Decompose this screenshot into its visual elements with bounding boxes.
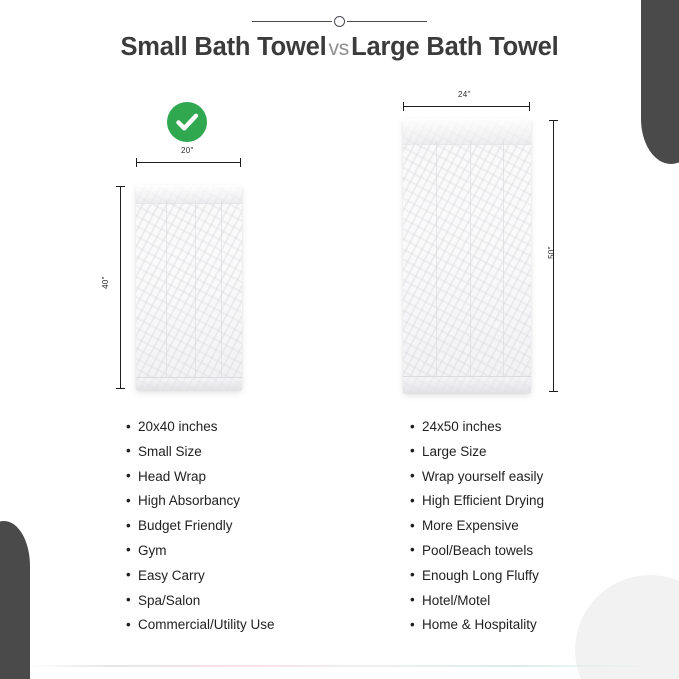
feature-list-item: 24x50 inches: [410, 415, 544, 440]
right-feature-list: 24x50 inchesLarge SizeWrap yourself easi…: [410, 415, 544, 638]
header-divider: [0, 16, 679, 27]
check-circle-icon: [167, 102, 207, 142]
title-right-product: Large Bath Towel: [351, 33, 558, 61]
right-height-label: 50": [547, 246, 556, 259]
towel-fold-bottom: [136, 377, 242, 390]
towel-fold-bottom: [403, 376, 531, 393]
left-width-dimension-line: [136, 162, 241, 163]
divider-rule-left: [252, 21, 332, 22]
feature-list-item: Large Size: [410, 440, 544, 465]
right-width-dimension-line: [403, 106, 530, 107]
right-width-label: 24": [458, 90, 471, 99]
decoration-corner-bottom-left: [0, 521, 30, 679]
towel-crease: [436, 141, 437, 377]
large-towel-image: [403, 119, 531, 393]
feature-list-item: Small Size: [126, 440, 275, 465]
feature-list-item: High Absorbancy: [126, 489, 275, 514]
feature-list-item: 20x40 inches: [126, 415, 275, 440]
feature-list-item: Spa/Salon: [126, 589, 275, 614]
feature-list-item: Enough Long Fluffy: [410, 564, 544, 589]
towel-comparison-infographic: Small Bath TowelvsLarge Bath Towel 20" 4…: [0, 0, 679, 679]
towel-fold-top: [136, 185, 242, 204]
feature-list-item: Pool/Beach towels: [410, 539, 544, 564]
feature-list-item: High Efficient Drying: [410, 489, 544, 514]
towel-crease: [195, 201, 196, 377]
feature-list-item: Budget Friendly: [126, 514, 275, 539]
title-left-product: Small Bath Towel: [120, 33, 326, 61]
left-height-label: 40": [101, 276, 110, 289]
feature-list-item: Commercial/Utility Use: [126, 613, 275, 638]
feature-list-item: More Expensive: [410, 514, 544, 539]
towel-crease: [221, 201, 222, 377]
towel-fold-top: [403, 119, 531, 145]
left-height-dimension-line: [120, 186, 121, 389]
small-towel-image: [136, 185, 242, 390]
towel-crease: [166, 201, 167, 377]
divider-rule-right: [347, 21, 427, 22]
divider-node-icon: [334, 16, 345, 27]
page-title: Small Bath TowelvsLarge Bath Towel: [0, 33, 679, 62]
title-vs-separator: vs: [326, 37, 351, 60]
feature-list-item: Wrap yourself easily: [410, 465, 544, 490]
feature-list-item: Easy Carry: [126, 564, 275, 589]
feature-list-item: Gym: [126, 539, 275, 564]
towel-crease: [503, 141, 504, 377]
left-feature-list: 20x40 inchesSmall SizeHead WrapHigh Abso…: [126, 415, 275, 638]
decoration-arc-bottom-right: [575, 575, 679, 679]
right-height-dimension-line: [553, 120, 554, 392]
towel-crease: [470, 141, 471, 377]
feature-list-item: Home & Hospitality: [410, 613, 544, 638]
feature-list-item: Hotel/Motel: [410, 589, 544, 614]
decoration-bottom-accent-line: [30, 665, 655, 667]
feature-list-item: Head Wrap: [126, 465, 275, 490]
left-width-label: 20": [181, 146, 194, 155]
